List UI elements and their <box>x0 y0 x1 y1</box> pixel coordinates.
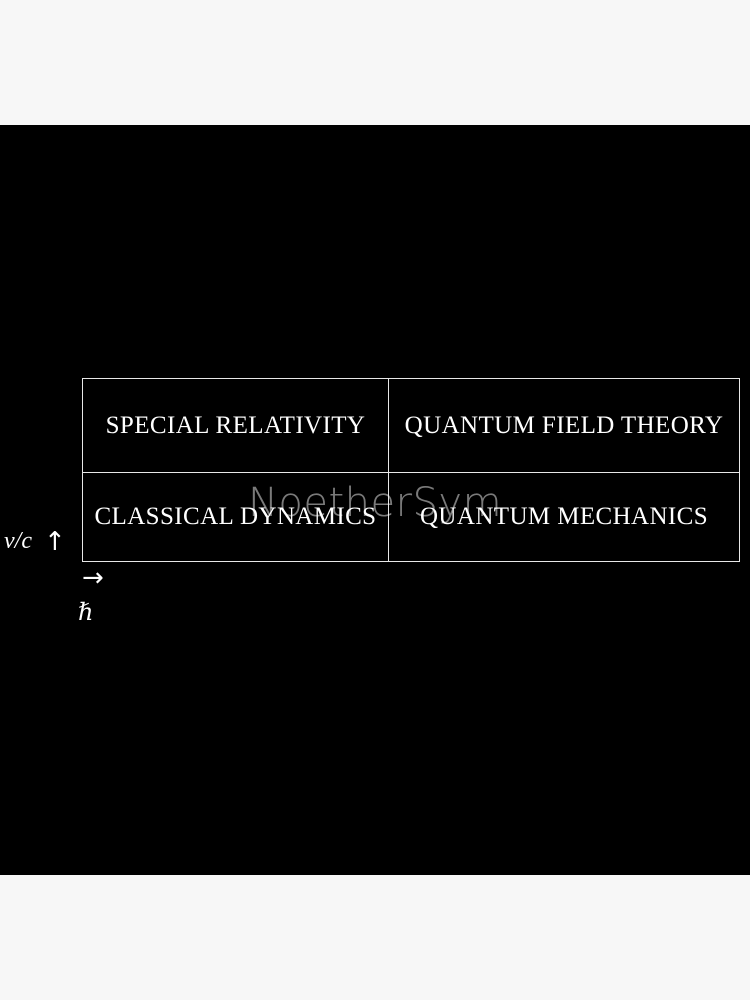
quadrant-cell-label: QUANTUM FIELD THEORY <box>405 412 724 440</box>
physics-quadrant-table: SPECIAL RELATIVITY QUANTUM FIELD THEORY … <box>82 378 740 562</box>
x-axis-label: ℏ <box>78 598 93 626</box>
poster-canvas: SPECIAL RELATIVITY QUANTUM FIELD THEORY … <box>0 0 750 1000</box>
quadrant-cell-special-relativity: SPECIAL RELATIVITY <box>83 379 389 473</box>
y-axis-annotation: v/c ↑ <box>4 528 66 555</box>
quadrant-cell-label: CLASSICAL DYNAMICS <box>94 503 376 531</box>
y-axis-label: v/c <box>4 528 32 555</box>
quadrant-cell-label: SPECIAL RELATIVITY <box>106 412 366 440</box>
quadrant-cell-quantum-field-theory: QUANTUM FIELD THEORY <box>389 379 739 473</box>
artwork-panel: SPECIAL RELATIVITY QUANTUM FIELD THEORY … <box>0 125 750 875</box>
quadrant-cell-classical-dynamics: CLASSICAL DYNAMICS <box>83 473 389 561</box>
x-axis-annotation: → ℏ <box>78 565 104 626</box>
arrow-up-icon: ↑ <box>44 529 66 555</box>
arrow-right-icon: → <box>82 565 104 591</box>
quadrant-cell-label: QUANTUM MECHANICS <box>420 503 708 531</box>
quadrant-cell-quantum-mechanics: QUANTUM MECHANICS <box>389 473 739 561</box>
